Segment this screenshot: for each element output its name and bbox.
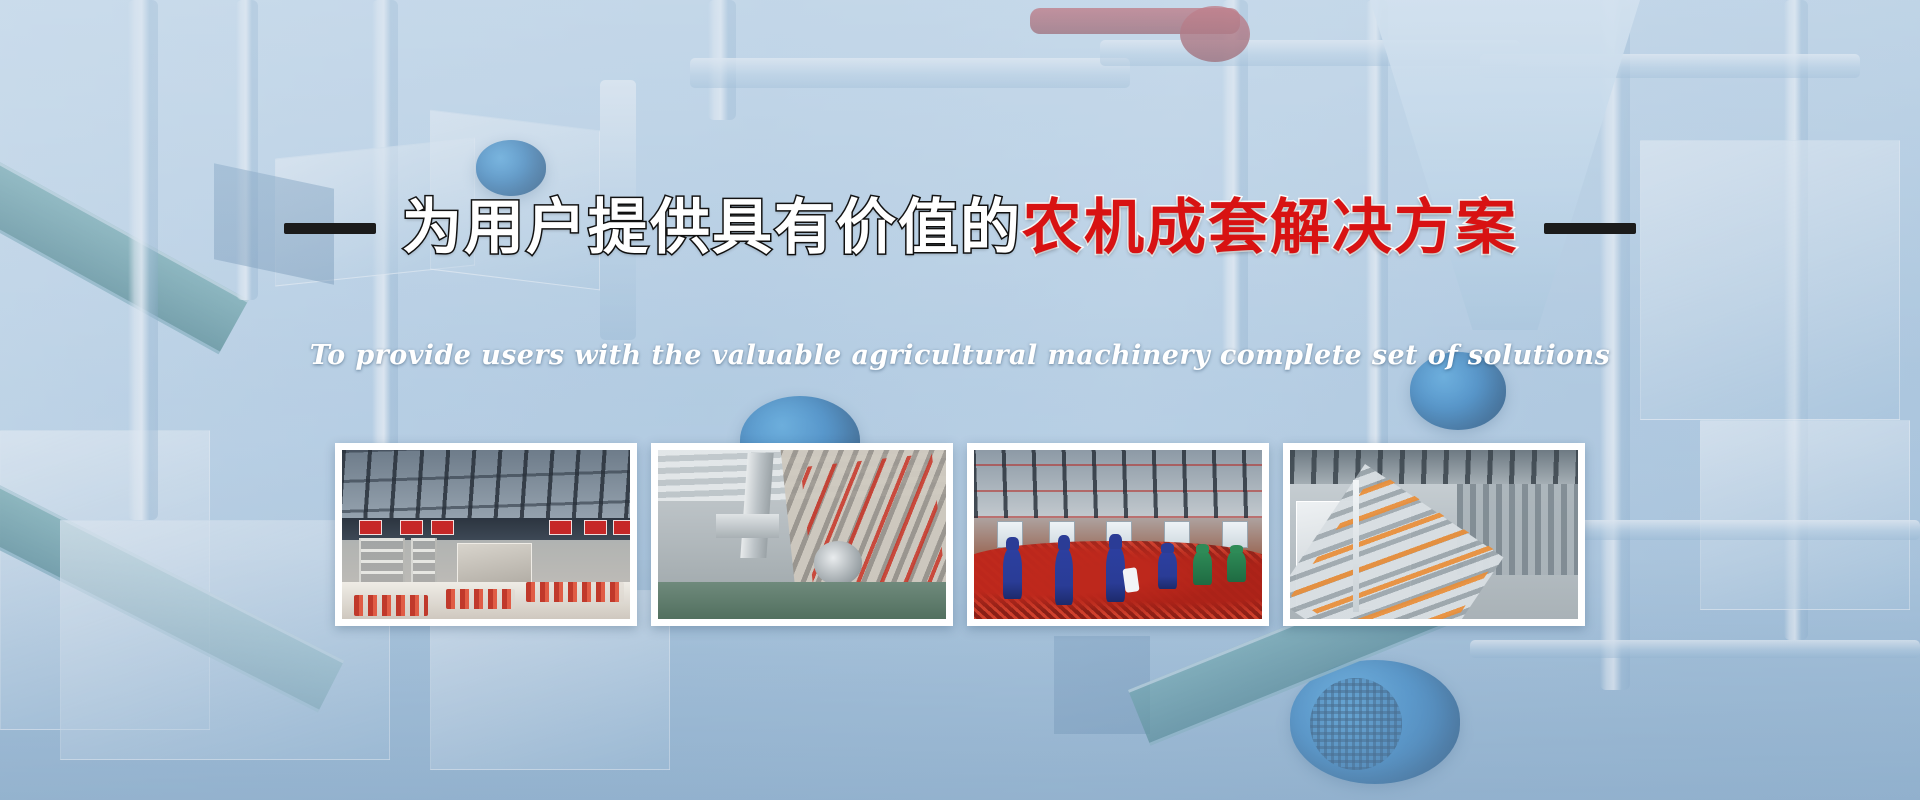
headline-row: 为用户提供具有价值的农机成套解决方案 [0,196,1920,261]
background-photo [0,0,1920,800]
thumbnail-1-image [342,450,630,619]
hero-banner: 为用户提供具有价值的农机成套解决方案 To provide users with… [0,0,1920,800]
page-subtitle: To provide users with the valuable agric… [0,340,1920,371]
right-rule-decoration [1544,223,1636,234]
blue-color-overlay [0,0,1920,800]
thumbnail-3[interactable] [967,443,1269,626]
headline-white-segment: 为用户提供具有价值的 [402,193,1022,263]
page-title: 为用户提供具有价值的农机成套解决方案 [402,196,1518,261]
thumbnail-strip [0,443,1920,626]
thumbnail-3-image [974,450,1262,619]
thumbnail-4-image [1290,450,1578,619]
thumbnail-2[interactable] [651,443,953,626]
thumbnail-1[interactable] [335,443,637,626]
thumbnail-2-image [658,450,946,619]
left-rule-decoration [284,223,376,234]
thumbnail-4[interactable] [1283,443,1585,626]
headline-red-segment: 农机成套解决方案 [1022,193,1518,263]
